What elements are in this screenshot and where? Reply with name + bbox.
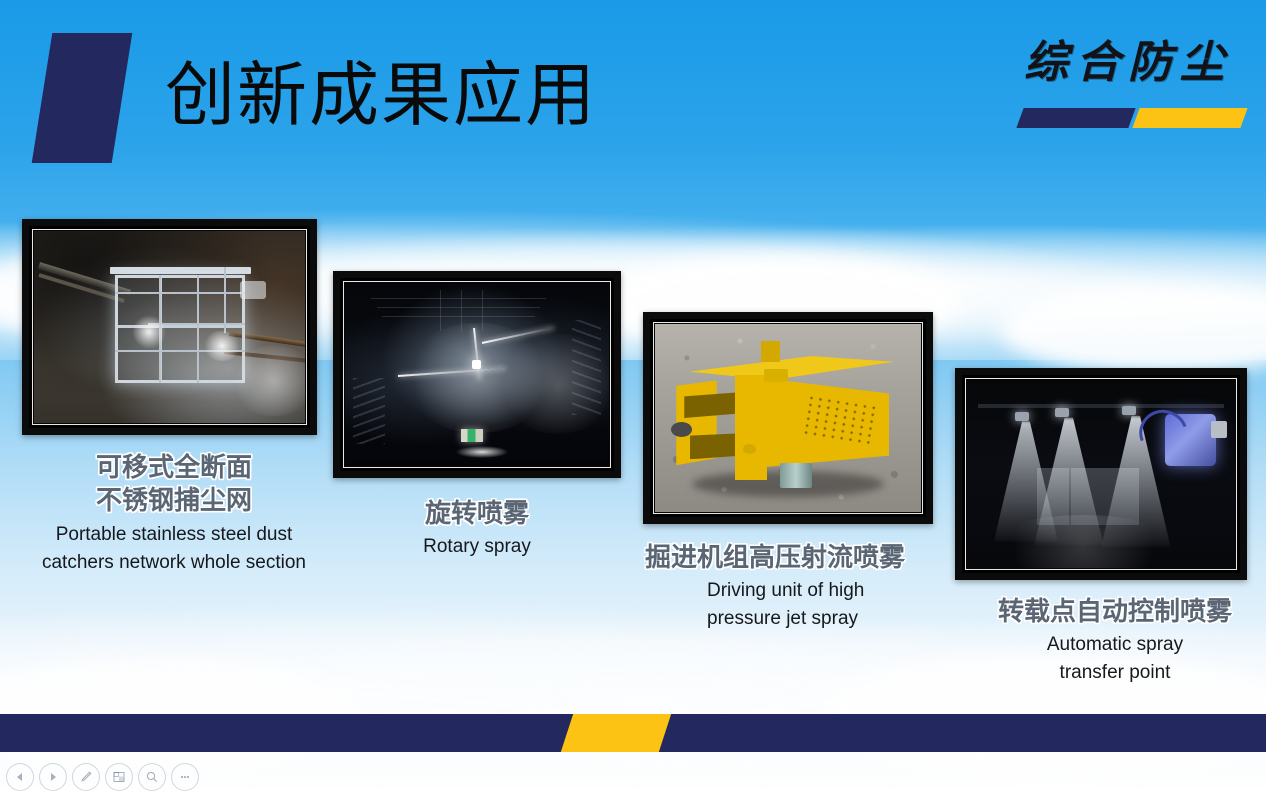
caption-en-line2-1: catchers network whole section <box>14 550 334 575</box>
machine-bolt-mid <box>764 369 788 382</box>
tunnel-sign <box>461 429 483 442</box>
arch-rib-2 <box>377 307 541 308</box>
mist-floor-glow <box>988 515 1178 568</box>
caption-cn-line1-1: 可移式全断面 <box>14 452 334 485</box>
photo-inner-border-4 <box>965 378 1237 570</box>
spray-head-2 <box>1055 408 1069 417</box>
caption-automatic-transfer-spray: 转载点自动控制喷雾 Automatic spray transfer point <box>955 596 1266 685</box>
photo-automatic-transfer-spray <box>955 368 1247 580</box>
pen-button[interactable] <box>72 763 100 791</box>
photo-rotary-spray <box>333 271 621 478</box>
zoom-button[interactable] <box>138 763 166 791</box>
caption-jet-spray-unit: 掘进机组高压射流喷雾 Driving unit of high pressure… <box>645 542 935 631</box>
previous-slide-button[interactable] <box>6 763 34 791</box>
logo-bars <box>1020 108 1244 128</box>
arch-rib-1 <box>371 298 545 299</box>
photo-inner-border-3 <box>653 322 923 514</box>
scene-rotary-spray <box>345 283 609 466</box>
photo-dust-catcher-net <box>22 219 317 435</box>
spray-head-3 <box>1122 406 1136 415</box>
logo-bar-gold <box>1132 108 1247 128</box>
spray-head-1 <box>1015 412 1029 421</box>
spray-glow-1 <box>132 315 166 349</box>
cloud-right <box>1000 285 1266 375</box>
scene-automatic-spray <box>967 380 1235 568</box>
overhead-rail <box>978 404 1225 408</box>
caption-en-line2-4: transfer point <box>955 660 1266 685</box>
caption-rotary-spray: 旋转喷雾 Rotary spray <box>357 498 597 559</box>
logo: 综合防尘 <box>1012 40 1244 140</box>
scene-jet-spray-machine <box>655 324 921 512</box>
caption-cn-line1-2: 旋转喷雾 <box>357 498 597 531</box>
photo-inner-border-1 <box>32 229 307 425</box>
caption-en-line1-1: Portable stainless steel dust <box>14 522 334 547</box>
machine-pin <box>743 444 756 453</box>
title-accent-parallelogram <box>32 33 133 163</box>
net-vertical-3 <box>224 267 226 332</box>
nozzle-bracket <box>1211 421 1227 438</box>
caption-dust-catcher-net: 可移式全断面 不锈钢捕尘网 Portable stainless steel d… <box>14 452 334 575</box>
previous-slide-icon <box>14 771 26 783</box>
more-options-button[interactable] <box>171 763 199 791</box>
photo-inner-border-2 <box>343 281 611 468</box>
slide-grid-icon <box>112 770 126 784</box>
arch-rib-3 <box>382 316 535 317</box>
more-options-icon <box>178 770 192 784</box>
caption-en-line1-2: Rotary spray <box>357 534 597 559</box>
caption-en-line1-3: Driving unit of high <box>707 578 935 603</box>
machine-pipe-stub <box>671 422 692 437</box>
caption-cn-line2-1: 不锈钢捕尘网 <box>14 485 334 518</box>
presentation-toolbar[interactable] <box>6 763 199 791</box>
photo-jet-spray-unit <box>643 312 933 524</box>
machine-base-cylinder <box>780 463 812 487</box>
play-slide-icon <box>47 771 59 783</box>
caption-cn-line1-4: 转载点自动控制喷雾 <box>955 596 1266 629</box>
mist-cloud-right <box>498 334 609 434</box>
caption-cn-line1-3: 掘进机组高压射流喷雾 <box>645 542 935 575</box>
scene-mine-tunnel <box>34 231 305 423</box>
arch-rib-vertical-1 <box>440 290 441 330</box>
logo-text: 综合防尘 <box>1012 40 1244 86</box>
slide-grid-button[interactable] <box>105 763 133 791</box>
tunnel-left-ribs <box>353 378 385 444</box>
search-icon <box>145 770 159 784</box>
spray-glow-2 <box>202 331 242 361</box>
machine-bolt-top <box>761 341 780 362</box>
play-slide-button[interactable] <box>39 763 67 791</box>
net-top-rail <box>110 267 251 274</box>
caption-en-line2-3: pressure jet spray <box>707 606 935 631</box>
caption-en-line1-4: Automatic spray <box>955 632 1266 657</box>
floor-light-reflection <box>456 446 508 458</box>
pen-icon <box>79 770 93 784</box>
logo-bar-navy <box>1016 108 1135 128</box>
footer-accent-parallelogram <box>561 714 671 752</box>
machine-center-column <box>735 375 767 480</box>
light-patch <box>240 281 266 299</box>
net-horizontal-1 <box>115 292 245 294</box>
net-vertical-2 <box>197 275 199 383</box>
page-title: 创新成果应用 <box>165 60 597 130</box>
presentation-slide: 创新成果应用 综合防尘 <box>0 0 1266 793</box>
